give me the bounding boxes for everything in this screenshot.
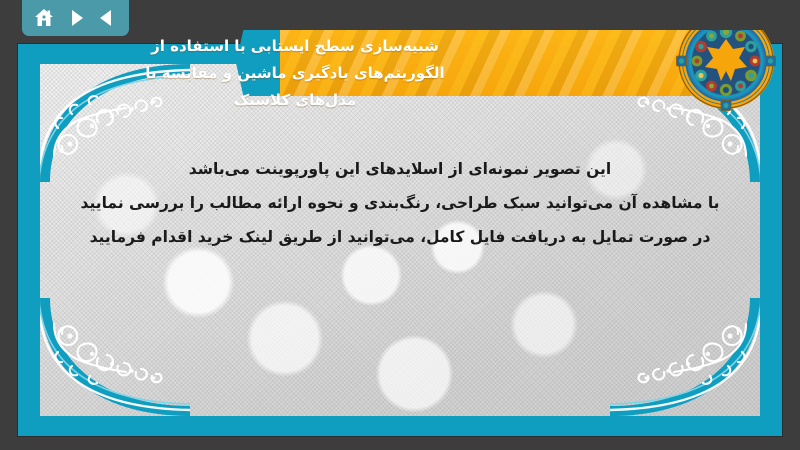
arabesque-corner-ornament-bottom-right	[610, 298, 760, 416]
slide-preview-window: این تصویر نمونه‌ای از اسلایدهای این پاور…	[0, 0, 800, 450]
slide-frame: این تصویر نمونه‌ای از اسلایدهای این پاور…	[18, 44, 782, 436]
body-line-2: با مشاهده آن می‌توانید سبک طراحی، رنگ‌بن…	[80, 186, 720, 220]
body-line-3: در صورت تمایل به دریافت فایل کامل، می‌تو…	[80, 220, 720, 254]
slide-content-area: این تصویر نمونه‌ای از اسلایدهای این پاور…	[40, 64, 760, 416]
forward-button[interactable]	[63, 5, 89, 31]
navigation-button-group	[22, 0, 129, 36]
ribbon-arrow-tip	[236, 30, 282, 96]
back-button[interactable]	[94, 5, 120, 31]
top-navigation-bar	[0, 0, 800, 30]
home-button[interactable]	[31, 5, 57, 31]
slide-body-text: این تصویر نمونه‌ای از اسلایدهای این پاور…	[80, 152, 720, 254]
arabesque-corner-ornament-bottom-left	[40, 298, 190, 416]
body-line-1: این تصویر نمونه‌ای از اسلایدهای این پاور…	[80, 152, 720, 186]
